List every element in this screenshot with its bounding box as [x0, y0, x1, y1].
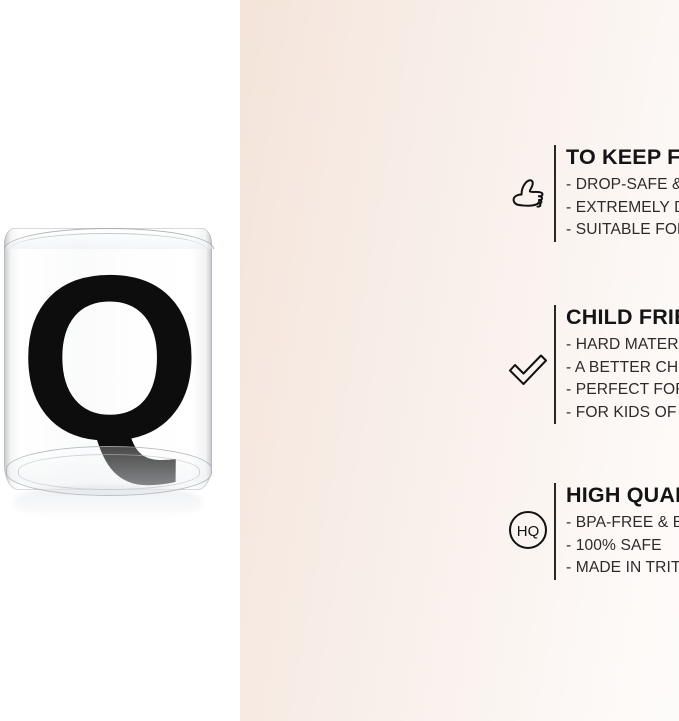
- feature-rule: [554, 483, 556, 580]
- feature-text-group: HIGH QUALITY - BPA-FREE & BPS-FREE - 100…: [566, 483, 679, 580]
- feature-text-group: CHILD FRIENDLY - HARD MATERIAL – EASY TO…: [566, 305, 679, 424]
- feature-item: - 100% SAFE: [566, 535, 679, 558]
- feature-title: TO KEEP FOREVER: [566, 145, 679, 170]
- feature-item: - FOR KIDS OF ALL AGES: [566, 402, 679, 425]
- feature-item: - HARD MATERIAL – EASY TO GRASP: [566, 334, 679, 357]
- feature-item: - A BETTER CHOICE COMPARED TO SILICONE: [566, 357, 679, 380]
- thumbs-up-icon: [502, 145, 554, 211]
- feature-block-keep-forever: TO KEEP FOREVER - DROP-SAFE & DISHWASHER…: [502, 145, 679, 242]
- feature-title: CHILD FRIENDLY: [566, 305, 679, 330]
- feature-block-child-friendly: CHILD FRIENDLY - HARD MATERIAL – EASY TO…: [502, 305, 679, 424]
- hq-badge-icon: HQ: [502, 483, 554, 550]
- cup-base-inner: [18, 454, 200, 490]
- checkmark-icon: [502, 305, 554, 387]
- drinking-cup-image: Q: [4, 228, 212, 518]
- feature-text-group: TO KEEP FOREVER - DROP-SAFE & DISHWASHER…: [566, 145, 679, 242]
- feature-list-panel: TO KEEP FOREVER - DROP-SAFE & DISHWASHER…: [240, 0, 679, 721]
- cup-letter: Q: [4, 238, 212, 478]
- feature-item: - EXTREMELY DURABLE: [566, 197, 679, 220]
- hq-badge-label: HQ: [517, 523, 540, 540]
- feature-block-high-quality: HQ HIGH QUALITY - BPA-FREE & BPS-FREE - …: [502, 483, 679, 580]
- product-infographic: Q TO KEEP FOREVER - DROP-SAFE & DISH: [0, 0, 679, 721]
- feature-rule: [554, 145, 556, 242]
- cup-reflection: [14, 486, 202, 520]
- product-image-panel: Q: [0, 0, 240, 721]
- feature-item: - DROP-SAFE & DISHWASHER SAFE: [566, 174, 679, 197]
- feature-item: - MADE IN TRITAN™: [566, 557, 679, 580]
- feature-item: - SUITABLE FOR MICROWAVE: [566, 219, 679, 242]
- feature-rule: [554, 305, 556, 424]
- feature-item: - BPA-FREE & BPS-FREE: [566, 512, 679, 535]
- feature-title: HIGH QUALITY: [566, 483, 679, 508]
- feature-item: - PERFECT FOR CUP DRINKING PRACTICE: [566, 379, 679, 402]
